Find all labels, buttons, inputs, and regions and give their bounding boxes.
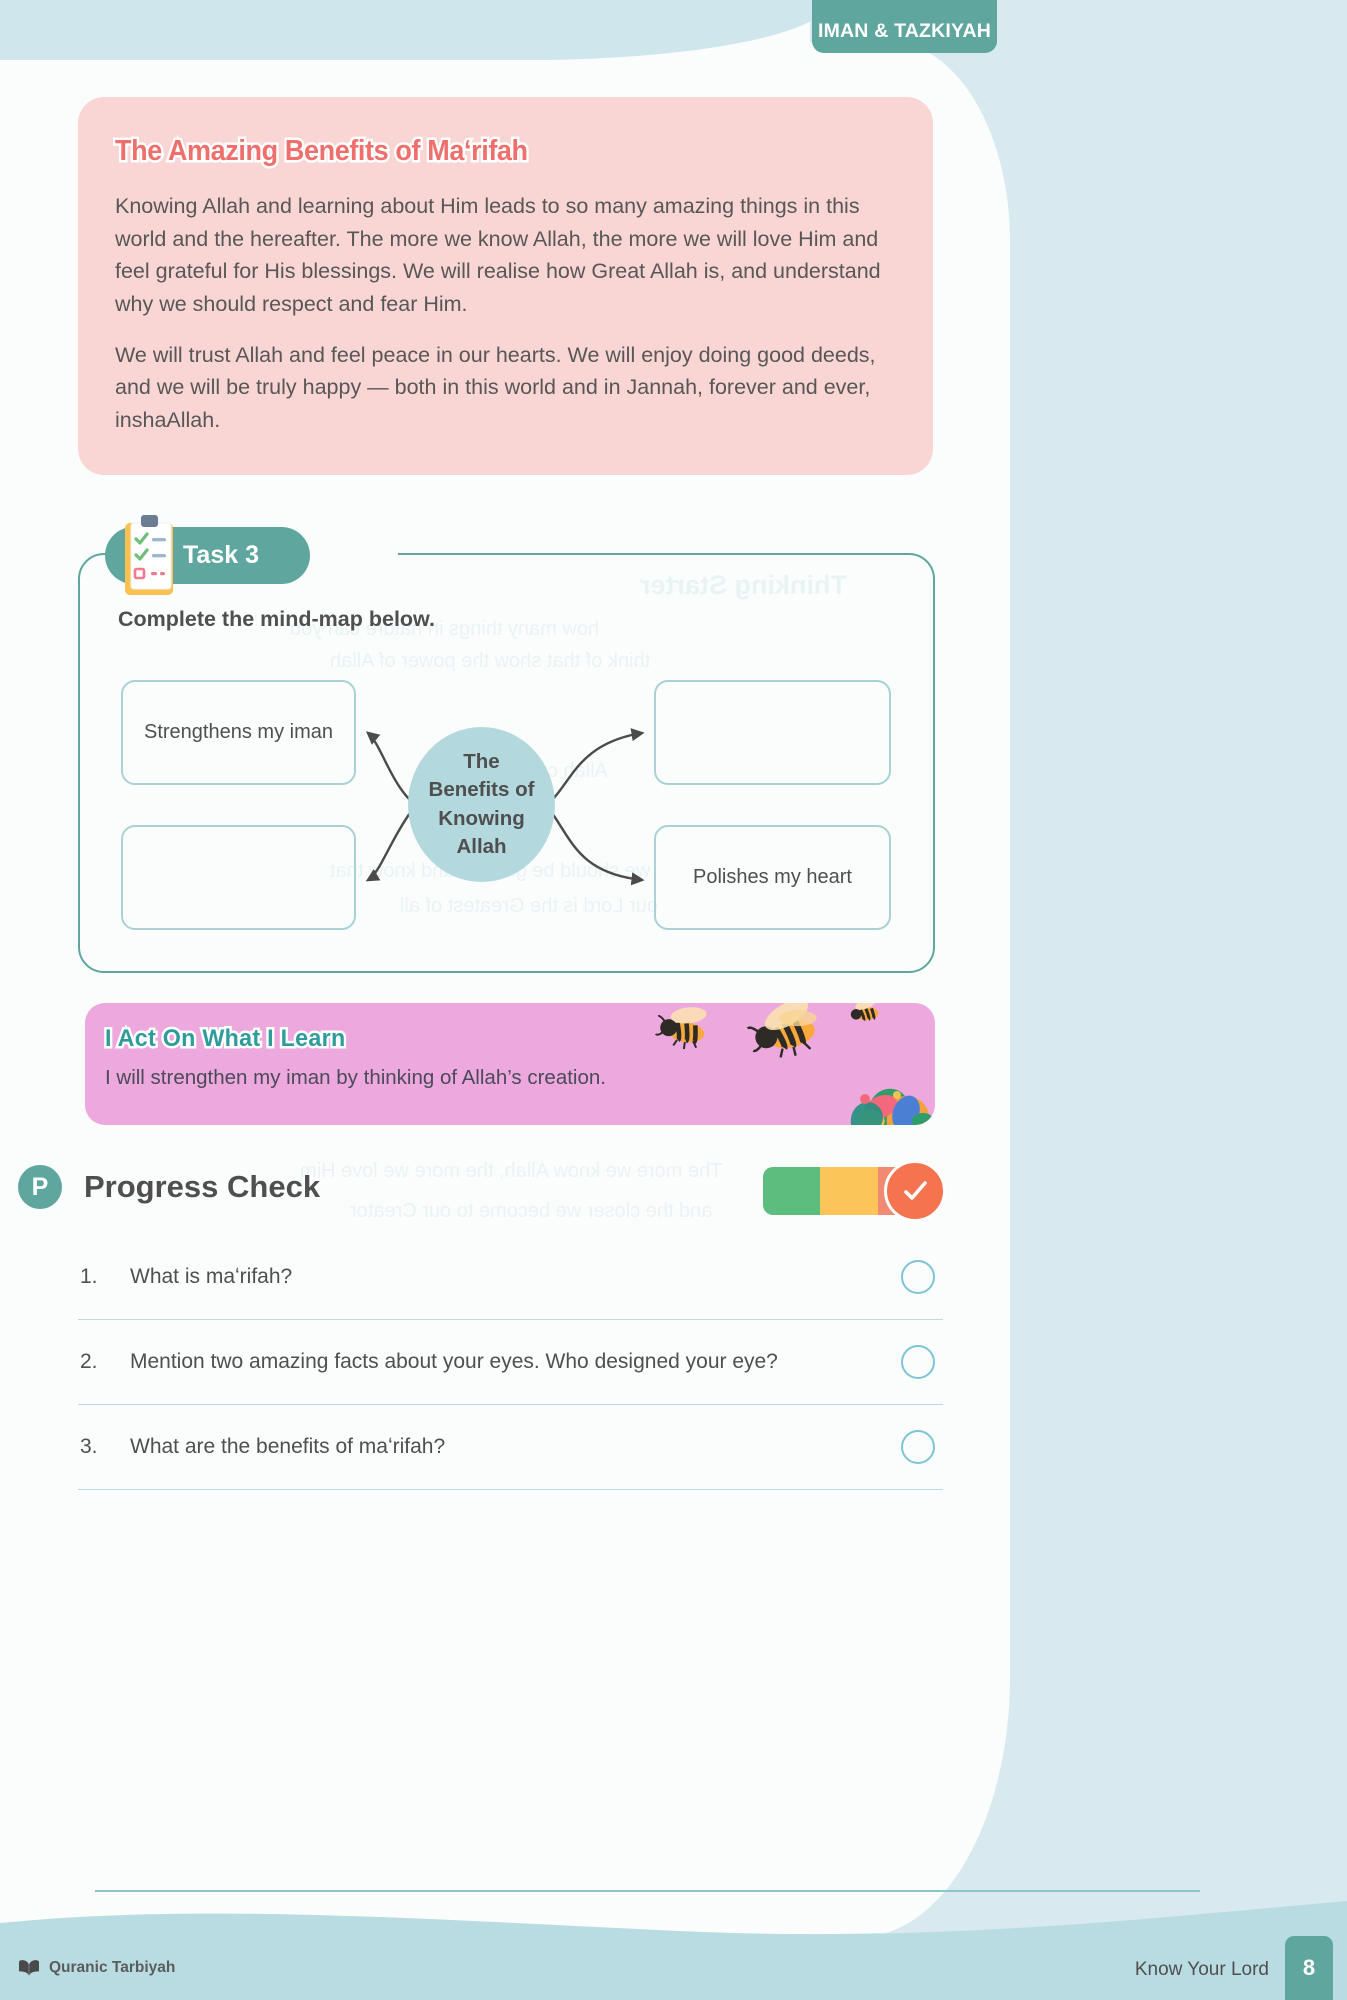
info-card-title: The Amazing Benefits of Maʻrifah bbox=[115, 135, 528, 168]
progress-check-title: Progress Check bbox=[84, 1169, 320, 1205]
bee-illustration bbox=[635, 1003, 935, 1125]
footer-wave-svg bbox=[0, 1875, 1347, 2000]
task-instruction: Complete the mind-map below. bbox=[118, 607, 435, 632]
question-text: What are the benefits of maʻrifah? bbox=[130, 1435, 901, 1459]
footer-book-title: Know Your Lord bbox=[1135, 1959, 1269, 1981]
mindmap-center-line-4: Allah bbox=[456, 833, 506, 861]
footer-divider bbox=[95, 1890, 1200, 1892]
question-tick-circle[interactable] bbox=[901, 1345, 935, 1379]
footer-brand-label: Quranic Tarbiyah bbox=[49, 1959, 175, 1977]
footer-wave-decoration bbox=[0, 1875, 1347, 2000]
book-logo-icon bbox=[18, 1959, 40, 1977]
question-tick-circle[interactable] bbox=[901, 1260, 935, 1294]
mindmap-box-label: Polishes my heart bbox=[693, 865, 852, 891]
progress-check-item: 1. What is maʻrifah? bbox=[78, 1235, 943, 1320]
mindmap-box-label: Strengthens my iman bbox=[144, 720, 333, 746]
rating-segment-yellow[interactable] bbox=[820, 1167, 877, 1215]
progress-check-questions: 1. What is maʻrifah? 2. Mention two amaz… bbox=[78, 1235, 943, 1490]
question-text: Mention two amazing facts about your eye… bbox=[130, 1350, 901, 1374]
info-card-paragraph-2: We will trust Allah and feel peace in ou… bbox=[115, 339, 899, 437]
mindmap-center-line-3: Knowing bbox=[438, 805, 525, 833]
mindmap-box-bottom-right[interactable]: Polishes my heart bbox=[654, 825, 891, 930]
chapter-tab-label: IMAN & TAZKIYAH bbox=[818, 20, 991, 43]
mindmap-center-line-2: Benefits of bbox=[429, 776, 535, 804]
mindmap-box-bottom-left[interactable] bbox=[121, 825, 356, 930]
footer-brand: Quranic Tarbiyah bbox=[18, 1959, 175, 1977]
clipboard-icon bbox=[122, 513, 176, 598]
question-tick-circle[interactable] bbox=[901, 1430, 935, 1464]
question-number: 2. bbox=[78, 1350, 130, 1374]
check-icon bbox=[900, 1176, 930, 1206]
act-on-what-i-learn-banner: I Act On What I Learn I will strengthen … bbox=[85, 1003, 935, 1125]
rating-segment-green[interactable] bbox=[763, 1167, 820, 1215]
task-panel: Task 3 Complete the mind-map below. bbox=[78, 553, 935, 973]
question-text: What is maʻrifah? bbox=[130, 1265, 901, 1289]
mindmap-box-top-left[interactable]: Strengthens my iman bbox=[121, 680, 356, 785]
task-badge-label: Task 3 bbox=[183, 541, 259, 570]
info-card-paragraph-1: Knowing Allah and learning about Him lea… bbox=[115, 190, 899, 321]
chapter-tab: IMAN & TAZKIYAH bbox=[812, 0, 997, 53]
mindmap: Strengthens my iman Polishes my heart Th… bbox=[80, 665, 937, 965]
progress-check-badge: P bbox=[18, 1165, 62, 1209]
page-number: 8 bbox=[1285, 1936, 1333, 2000]
mindmap-center-line-1: The bbox=[463, 748, 499, 776]
progress-check-header: P Progress Check bbox=[18, 1165, 320, 1209]
progress-check-item: 3. What are the benefits of maʻrifah? bbox=[78, 1405, 943, 1490]
rating-selected-check[interactable] bbox=[884, 1160, 946, 1222]
info-card: The Amazing Benefits of Maʻrifah Knowing… bbox=[78, 97, 933, 475]
mindmap-box-top-right[interactable] bbox=[654, 680, 891, 785]
mindmap-center-node: The Benefits of Knowing Allah bbox=[408, 727, 555, 882]
question-number: 3. bbox=[78, 1435, 130, 1459]
question-number: 1. bbox=[78, 1265, 130, 1289]
progress-check-item: 2. Mention two amazing facts about your … bbox=[78, 1320, 943, 1405]
act-banner-title: I Act On What I Learn bbox=[105, 1025, 345, 1053]
